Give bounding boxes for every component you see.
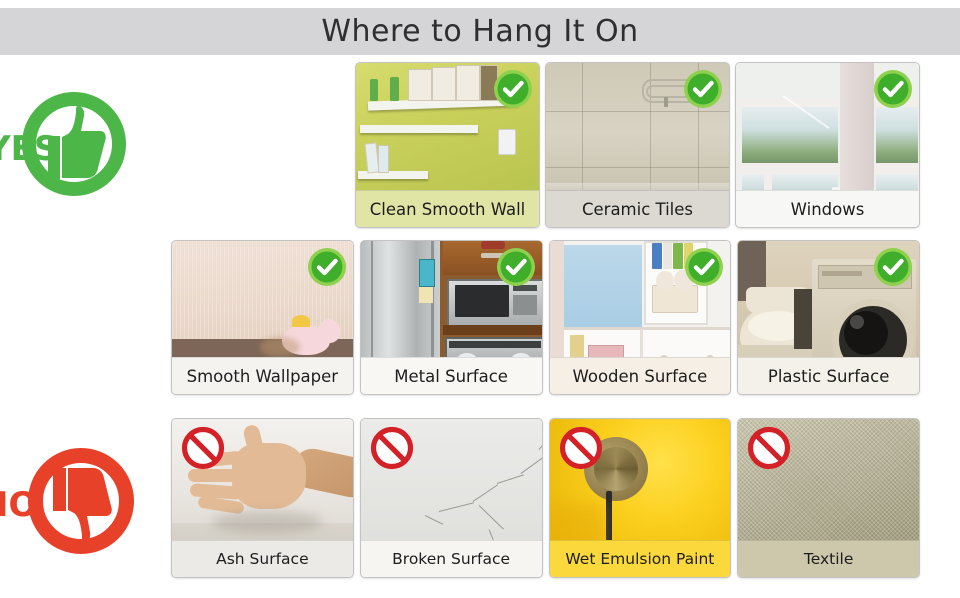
card-label: Windows [736,190,919,227]
green-check-badge-icon [684,247,724,287]
card-row-approved-1: Clean Smooth Wall [355,62,920,228]
card-label: Clean Smooth Wall [356,190,539,227]
page-title: Where to Hang It On [321,14,638,49]
card-metal-surface[interactable]: Metal Surface [360,240,543,395]
verdict-no-label: NO [0,488,37,522]
card-label: Smooth Wallpaper [172,357,353,394]
card-label: Ash Surface [172,540,353,577]
card-smooth-wallpaper[interactable]: Smooth Wallpaper [171,240,354,395]
card-label: Plastic Surface [738,357,919,394]
red-prohibition-badge-icon [180,425,226,471]
card-plastic-surface[interactable]: Plastic Surface [737,240,920,395]
card-photo [736,63,919,190]
card-photo [361,419,542,540]
card-label: Wet Emulsion Paint [550,540,731,577]
card-label: Wooden Surface [550,357,731,394]
card-photo [546,63,729,190]
card-photo [361,241,542,357]
green-check-badge-icon [873,247,913,287]
green-check-badge-icon [496,247,536,287]
verdict-yes-label: YES [0,132,58,166]
card-ash-surface[interactable]: Ash Surface [171,418,354,578]
card-windows[interactable]: Windows [735,62,920,228]
card-wooden-surface[interactable]: Wooden Surface [549,240,732,395]
card-photo [550,241,731,357]
red-prohibition-badge-icon [558,425,604,471]
green-check-badge-icon [873,69,913,109]
card-photo [550,419,731,540]
header-bar: Where to Hang It On [0,8,960,55]
verdict-no: NO [0,440,159,570]
green-check-badge-icon [307,247,347,287]
thumbs-down-icon [50,460,114,544]
card-row-forbidden: Ash Surface Broken Surfac [171,418,920,578]
card-clean-smooth-wall[interactable]: Clean Smooth Wall [355,62,540,228]
card-photo [172,241,353,357]
card-wet-emulsion-paint[interactable]: Wet Emulsion Paint [549,418,732,578]
card-photo [738,419,919,540]
red-prohibition-badge-icon [746,425,792,471]
red-prohibition-badge-icon [369,425,415,471]
card-photo [356,63,539,190]
verdict-yes: YES [0,88,169,208]
card-label: Metal Surface [361,357,542,394]
card-label: Broken Surface [361,540,542,577]
card-label: Textile [738,540,919,577]
card-row-approved-2: Smooth Wallpaper [171,240,920,395]
card-label: Ceramic Tiles [546,190,729,227]
card-photo [738,241,919,357]
card-ceramic-tiles[interactable]: Ceramic Tiles [545,62,730,228]
card-photo [172,419,353,540]
green-check-badge-icon [493,69,533,109]
card-textile[interactable]: Textile [737,418,920,578]
green-check-badge-icon [683,69,723,109]
card-broken-surface[interactable]: Broken Surface [360,418,543,578]
